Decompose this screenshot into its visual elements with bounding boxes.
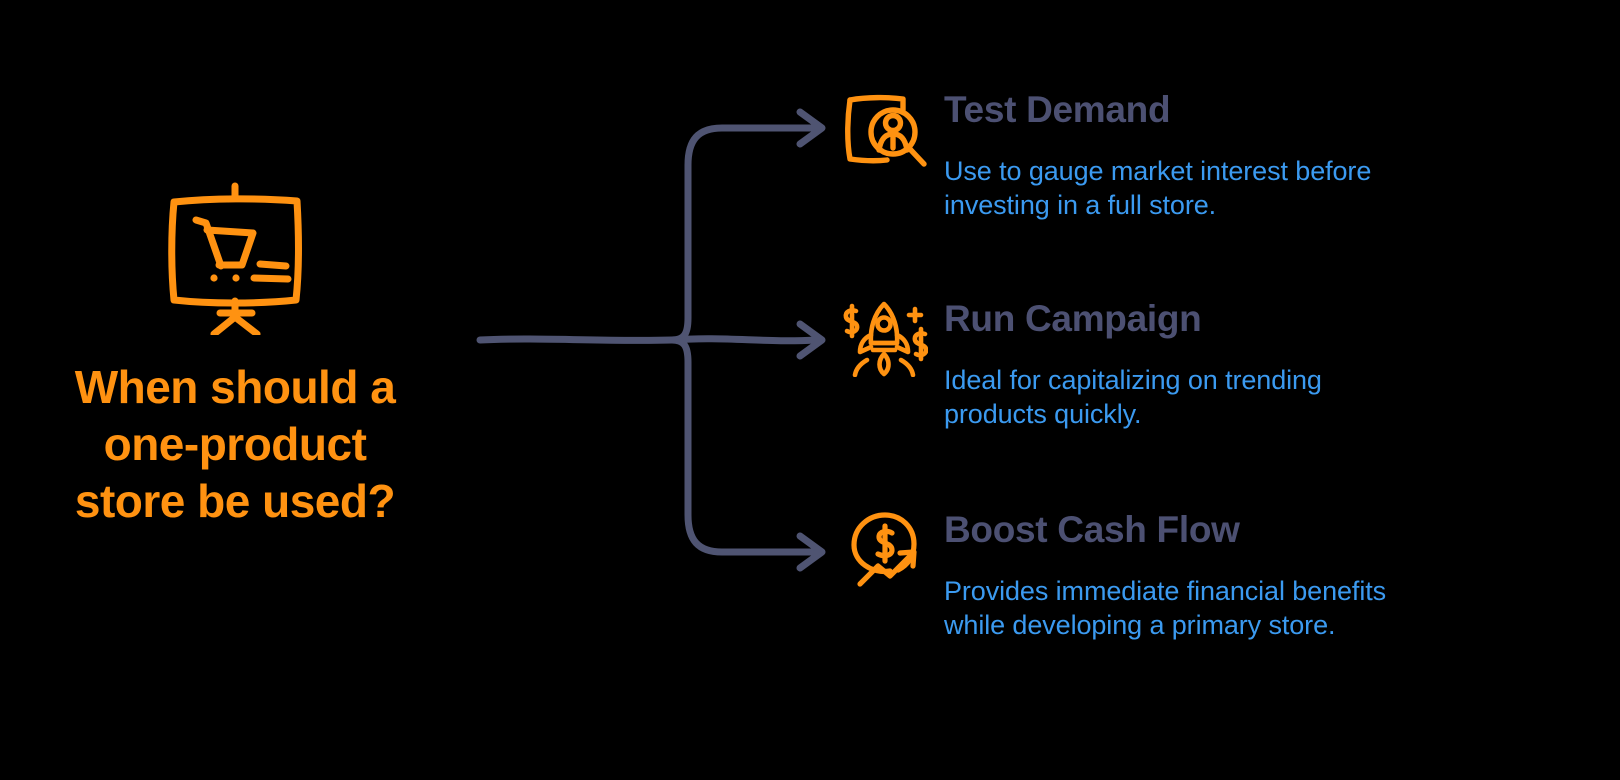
- row-text: Run Campaign Ideal for capitalizing on t…: [944, 297, 1540, 431]
- list-item: Run Campaign Ideal for capitalizing on t…: [840, 297, 1540, 431]
- dollar-circle-growth-arrow-icon: [840, 508, 928, 588]
- presentation-board-shopping-cart-icon: [160, 180, 310, 335]
- list-item: Boost Cash Flow Provides immediate finan…: [840, 508, 1540, 642]
- row-heading: Test Demand: [944, 88, 1540, 132]
- row-heading: Run Campaign: [944, 297, 1540, 341]
- row-body: Provides immediate financial benefits wh…: [944, 574, 1540, 642]
- infographic-canvas: When should a one-product store be used?: [0, 0, 1620, 780]
- branching-arrow-connector: [460, 90, 860, 590]
- question-block: When should a one-product store be used?: [0, 180, 470, 530]
- document-magnifier-person-icon: [840, 88, 928, 168]
- list-item: Test Demand Use to gauge market interest…: [840, 88, 1540, 222]
- row-heading: Boost Cash Flow: [944, 508, 1540, 552]
- page-title: When should a one-product store be used?: [75, 359, 396, 530]
- row-text: Test Demand Use to gauge market interest…: [944, 88, 1540, 222]
- row-body: Ideal for capitalizing on trending produ…: [944, 363, 1540, 431]
- row-text: Boost Cash Flow Provides immediate finan…: [944, 508, 1540, 642]
- row-body: Use to gauge market interest before inve…: [944, 154, 1540, 222]
- rocket-dollar-signs-icon: [840, 297, 928, 377]
